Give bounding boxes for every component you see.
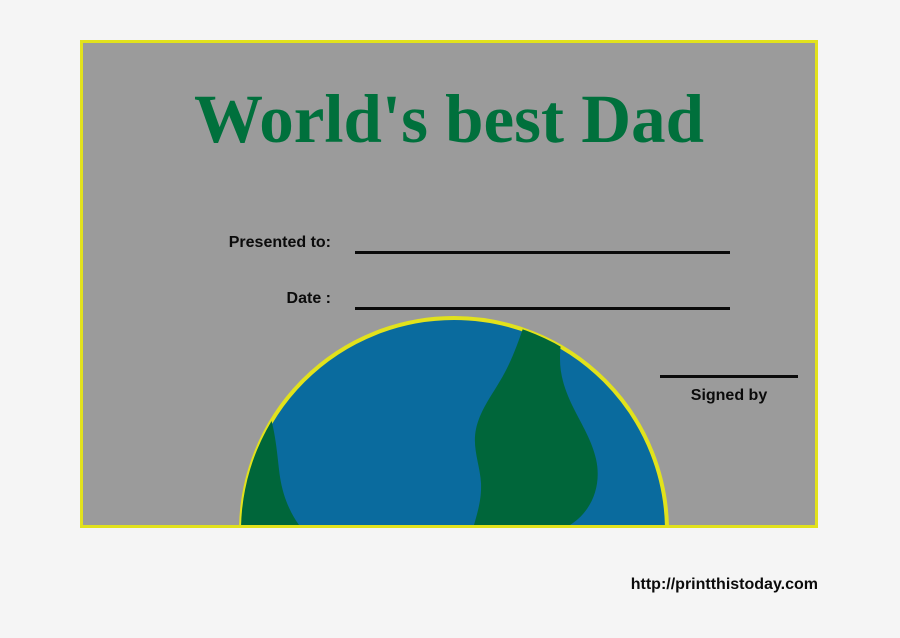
certificate-card: World's best Dad Presented to: Date : Si… [80,40,818,528]
presented-to-row: Presented to: [201,233,730,254]
globe-ocean [241,318,667,528]
globe-land-west [238,403,440,528]
signed-by-label: Signed by [660,387,798,405]
globe-land-north [468,318,597,528]
presented-to-input-line[interactable] [355,233,730,254]
date-label: Date : [201,290,331,310]
certificate-title: World's best Dad [83,85,815,154]
page-canvas: World's best Dad Presented to: Date : Si… [0,0,900,638]
date-input-line[interactable] [355,289,730,310]
presented-to-label: Presented to: [201,234,331,254]
globe-icon [238,315,670,528]
globe-illustration [238,315,670,528]
signed-by-block: Signed by [660,375,798,405]
footer-url[interactable]: http://printthistoday.com [0,576,818,594]
signed-by-input-line[interactable] [660,375,798,378]
date-row: Date : [201,289,730,310]
globe-landmasses [238,318,598,528]
